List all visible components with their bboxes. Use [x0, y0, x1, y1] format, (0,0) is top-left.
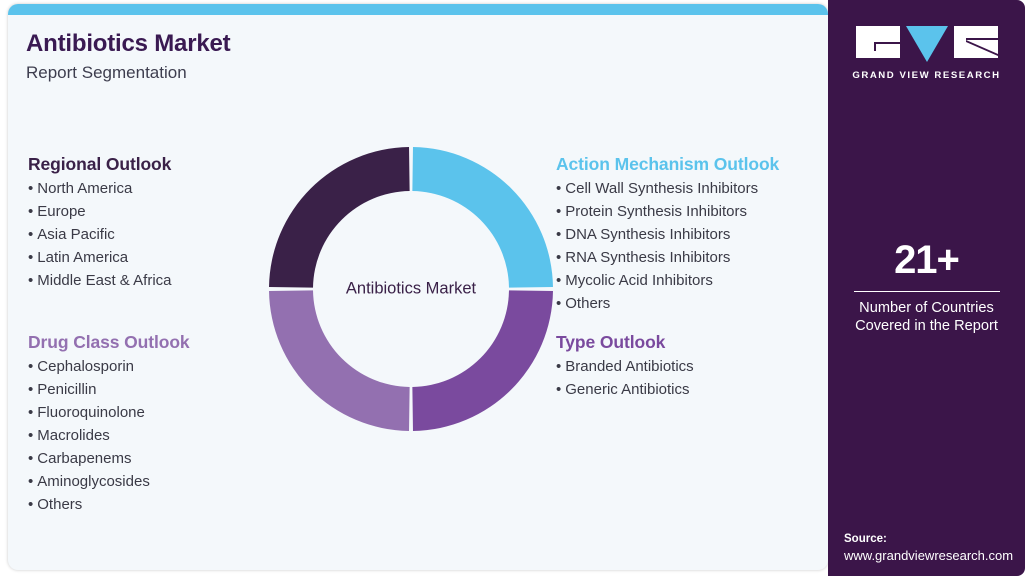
outlook-list-regional: •North America •Europe •Asia Pacific •La… — [28, 178, 172, 293]
list-item-label: Europe — [37, 203, 85, 220]
list-item-label: Mycolic Acid Inhibitors — [565, 272, 713, 289]
list-item: •Others — [556, 293, 779, 316]
list-item-label: Aminoglycosides — [37, 473, 150, 490]
donut-segment[interactable] — [269, 147, 410, 288]
list-item: •North America — [28, 178, 172, 201]
outlook-heading-drug-class: Drug Class Outlook — [28, 332, 190, 353]
list-item: •Cell Wall Synthesis Inhibitors — [556, 178, 779, 201]
bullet-icon: • — [28, 473, 33, 490]
source-url[interactable]: www.grandviewresearch.com — [844, 548, 1013, 563]
gvr-logo-icon — [856, 24, 998, 62]
list-item-label: Others — [565, 295, 610, 312]
list-item-label: Cell Wall Synthesis Inhibitors — [565, 180, 758, 197]
bullet-icon: • — [28, 404, 33, 421]
content-card: Antibiotics Market Report Segmentation R… — [8, 4, 828, 570]
list-item: •Others — [28, 494, 190, 517]
bullet-icon: • — [28, 450, 33, 467]
title-block: Antibiotics Market Report Segmentation — [26, 30, 230, 83]
outlook-section-action-mechanism: Action Mechanism Outlook •Cell Wall Synt… — [556, 154, 779, 316]
list-item-label: Middle East & Africa — [37, 272, 171, 289]
list-item: •Aminoglycosides — [28, 471, 190, 494]
stat-caption-line-1: Number of Countries — [828, 299, 1025, 317]
list-item-label: DNA Synthesis Inhibitors — [565, 226, 730, 243]
source-label: Source: — [844, 533, 1013, 545]
list-item: •Europe — [28, 201, 172, 224]
donut-segment[interactable] — [269, 290, 410, 431]
outlook-list-type: •Branded Antibiotics •Generic Antibiotic… — [556, 356, 694, 402]
side-panel: GRAND VIEW RESEARCH 21+ Number of Countr… — [828, 0, 1025, 576]
outlook-heading-regional: Regional Outlook — [28, 154, 172, 175]
outlook-section-type: Type Outlook •Branded Antibiotics •Gener… — [556, 332, 694, 402]
donut-segment[interactable] — [412, 147, 553, 288]
list-item-label: Cephalosporin — [37, 358, 134, 375]
list-item: •Middle East & Africa — [28, 270, 172, 293]
list-item: •Latin America — [28, 247, 172, 270]
stat-divider — [854, 291, 1000, 292]
stat-value: 21+ — [828, 238, 1025, 283]
stat-caption-line-2: Covered in the Report — [828, 317, 1025, 335]
bullet-icon: • — [28, 427, 33, 444]
infographic-canvas: Antibiotics Market Report Segmentation R… — [0, 0, 1025, 576]
outlook-heading-action-mechanism: Action Mechanism Outlook — [556, 154, 779, 175]
list-item: •Asia Pacific — [28, 224, 172, 247]
list-item-label: Protein Synthesis Inhibitors — [565, 203, 747, 220]
list-item: •Mycolic Acid Inhibitors — [556, 270, 779, 293]
brand-logo: GRAND VIEW RESEARCH — [828, 24, 1025, 81]
list-item-label: Fluoroquinolone — [37, 404, 145, 421]
bullet-icon: • — [28, 203, 33, 220]
donut-segment[interactable] — [412, 290, 553, 431]
list-item: •Fluoroquinolone — [28, 402, 190, 425]
bullet-icon: • — [28, 249, 33, 266]
bullet-icon: • — [28, 381, 33, 398]
donut-chart: Antibiotics Market — [266, 144, 556, 434]
outlook-section-drug-class: Drug Class Outlook •Cephalosporin •Penic… — [28, 332, 190, 517]
list-item-label: Penicillin — [37, 381, 96, 398]
stat-block: 21+ Number of Countries Covered in the R… — [828, 238, 1025, 336]
list-item: •Carbapenems — [28, 448, 190, 471]
donut-chart-svg — [266, 144, 556, 434]
stat-caption: Number of Countries Covered in the Repor… — [828, 299, 1025, 336]
list-item: •Macrolides — [28, 425, 190, 448]
list-item: •Branded Antibiotics — [556, 356, 694, 379]
bullet-icon: • — [28, 358, 33, 375]
bullet-icon: • — [556, 180, 561, 197]
list-item-label: RNA Synthesis Inhibitors — [565, 249, 730, 266]
list-item: •Cephalosporin — [28, 356, 190, 379]
bullet-icon: • — [28, 496, 33, 513]
brand-wordmark: GRAND VIEW RESEARCH — [828, 70, 1025, 81]
bullet-icon: • — [556, 295, 561, 312]
bullet-icon: • — [556, 358, 561, 375]
list-item-label: Generic Antibiotics — [565, 381, 689, 398]
list-item: •DNA Synthesis Inhibitors — [556, 224, 779, 247]
bullet-icon: • — [556, 272, 561, 289]
list-item: •Protein Synthesis Inhibitors — [556, 201, 779, 224]
list-item-label: Carbapenems — [37, 450, 131, 467]
bullet-icon: • — [28, 226, 33, 243]
bullet-icon: • — [556, 226, 561, 243]
outlook-list-drug-class: •Cephalosporin •Penicillin •Fluoroquinol… — [28, 356, 190, 517]
outlook-heading-type: Type Outlook — [556, 332, 694, 353]
list-item-label: Others — [37, 496, 82, 513]
top-accent-bar — [8, 4, 828, 15]
list-item: •RNA Synthesis Inhibitors — [556, 247, 779, 270]
bullet-icon: • — [556, 203, 561, 220]
bullet-icon: • — [28, 272, 33, 289]
outlook-list-action-mechanism: •Cell Wall Synthesis Inhibitors •Protein… — [556, 178, 779, 316]
page-subtitle: Report Segmentation — [26, 63, 230, 83]
list-item: •Generic Antibiotics — [556, 379, 694, 402]
page-title: Antibiotics Market — [26, 30, 230, 58]
list-item-label: Latin America — [37, 249, 128, 266]
outlook-section-regional: Regional Outlook •North America •Europe … — [28, 154, 172, 293]
list-item-label: Branded Antibiotics — [565, 358, 693, 375]
bullet-icon: • — [556, 381, 561, 398]
list-item-label: North America — [37, 180, 132, 197]
list-item-label: Macrolides — [37, 427, 110, 444]
source-block: Source: www.grandviewresearch.com — [844, 533, 1013, 563]
bullet-icon: • — [556, 249, 561, 266]
bullet-icon: • — [28, 180, 33, 197]
list-item: •Penicillin — [28, 379, 190, 402]
list-item-label: Asia Pacific — [37, 226, 115, 243]
